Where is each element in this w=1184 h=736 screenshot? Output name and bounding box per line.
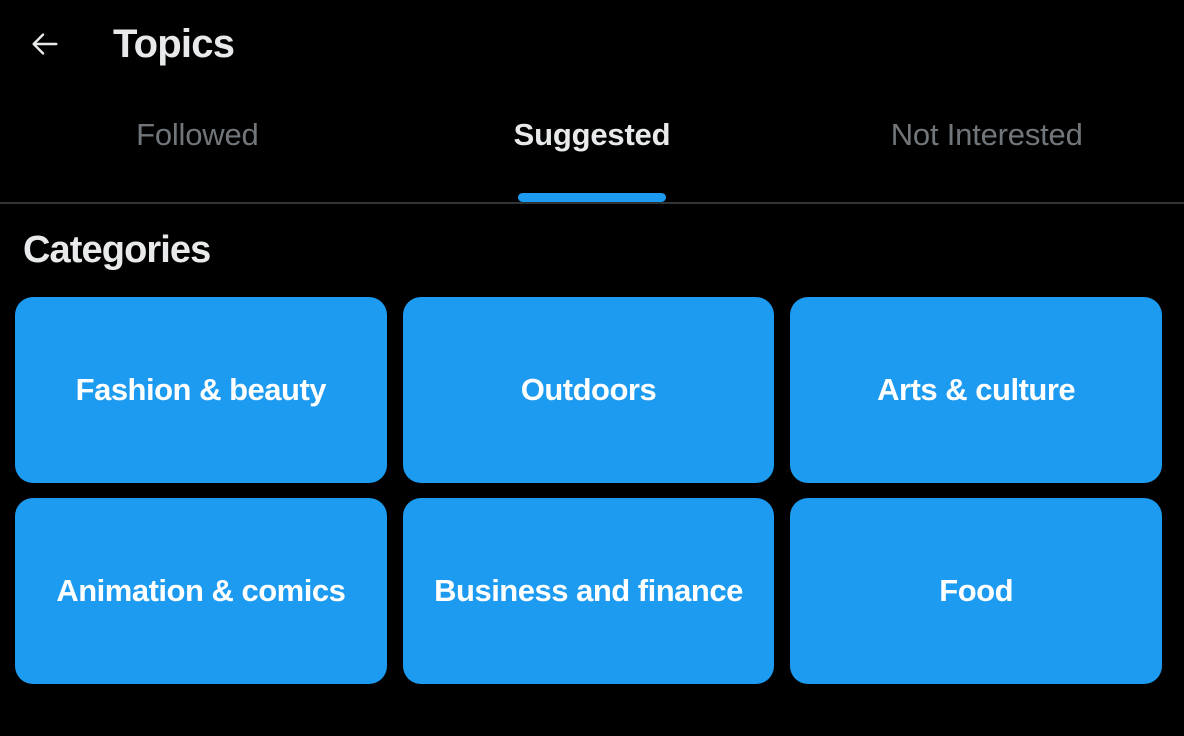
category-card[interactable]: Food (790, 498, 1162, 684)
tab-active-indicator (518, 193, 666, 202)
tab-followed-label: Followed (136, 116, 258, 153)
category-card-label: Business and finance (434, 571, 743, 611)
category-card[interactable]: Animation & comics (15, 498, 387, 684)
category-card-label: Animation & comics (56, 571, 345, 611)
tab-not-interested-label: Not Interested (891, 116, 1083, 153)
topics-screen: Topics Followed Suggested Not Interested… (0, 0, 1184, 736)
category-card-label: Food (939, 571, 1013, 611)
category-card[interactable]: Arts & culture (790, 297, 1162, 483)
category-card[interactable]: Outdoors (403, 297, 775, 483)
tab-not-interested[interactable]: Not Interested (789, 88, 1184, 202)
topics-content: Categories Fashion & beauty Outdoors Art… (0, 204, 1184, 736)
back-button[interactable] (22, 21, 68, 67)
app-header: Topics (0, 0, 1184, 88)
tab-followed[interactable]: Followed (0, 88, 395, 202)
category-card-label: Outdoors (521, 370, 657, 410)
category-card-label: Arts & culture (877, 370, 1075, 410)
tab-suggested-label: Suggested (514, 116, 671, 153)
arrow-left-icon (28, 27, 62, 61)
category-card-label: Fashion & beauty (76, 370, 326, 410)
categories-section-title: Categories (15, 204, 1162, 272)
page-title: Topics (113, 24, 234, 64)
category-card[interactable]: Business and finance (403, 498, 775, 684)
tab-suggested[interactable]: Suggested (395, 88, 790, 202)
categories-grid: Fashion & beauty Outdoors Arts & culture… (15, 297, 1162, 684)
tab-bar: Followed Suggested Not Interested (0, 88, 1184, 204)
category-card[interactable]: Fashion & beauty (15, 297, 387, 483)
